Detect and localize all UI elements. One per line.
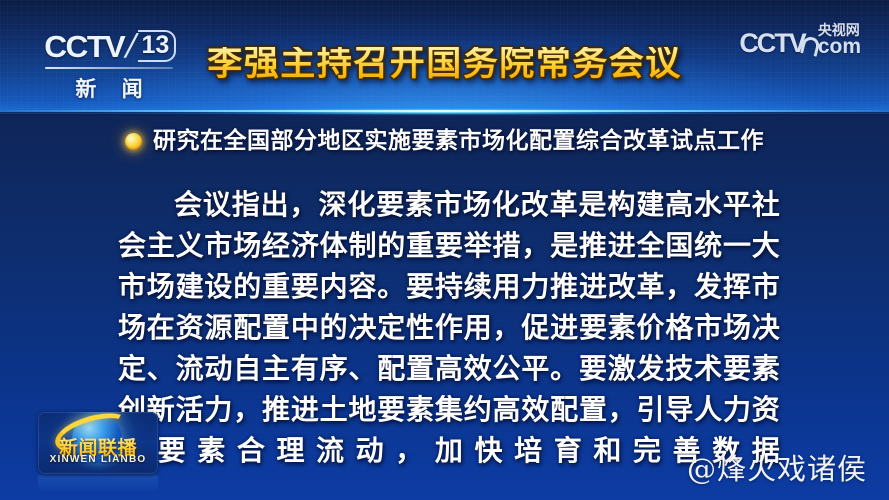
separator-line — [0, 110, 889, 112]
subtitle-row: 研究在全国部分地区实施要素市场化配置综合改革试点工作 — [0, 128, 889, 156]
broadcast-lower-third-screen: CCTV / 13 新 闻 CCTV 央视网 com 李强主持召开国务院常务会议… — [0, 0, 889, 500]
headline-title: 李强主持召开国务院常务会议 — [0, 47, 889, 82]
body-paragraph: 会议指出，深化要素市场化改革是构建高水平社会主义市场经济体制的重要举措，是推进全… — [118, 184, 780, 471]
program-logo-reflection — [38, 475, 158, 493]
subtitle-text: 研究在全国部分地区实施要素市场化配置综合改革试点工作 — [153, 128, 764, 156]
gold-dot-icon — [125, 133, 142, 150]
user-watermark: @烽火戏诸侯 — [687, 446, 867, 488]
program-name-en: XINWEN LIANBO — [38, 454, 158, 465]
xinwen-lianbo-logo: 新闻联播 XINWEN LIANBO — [38, 412, 158, 474]
